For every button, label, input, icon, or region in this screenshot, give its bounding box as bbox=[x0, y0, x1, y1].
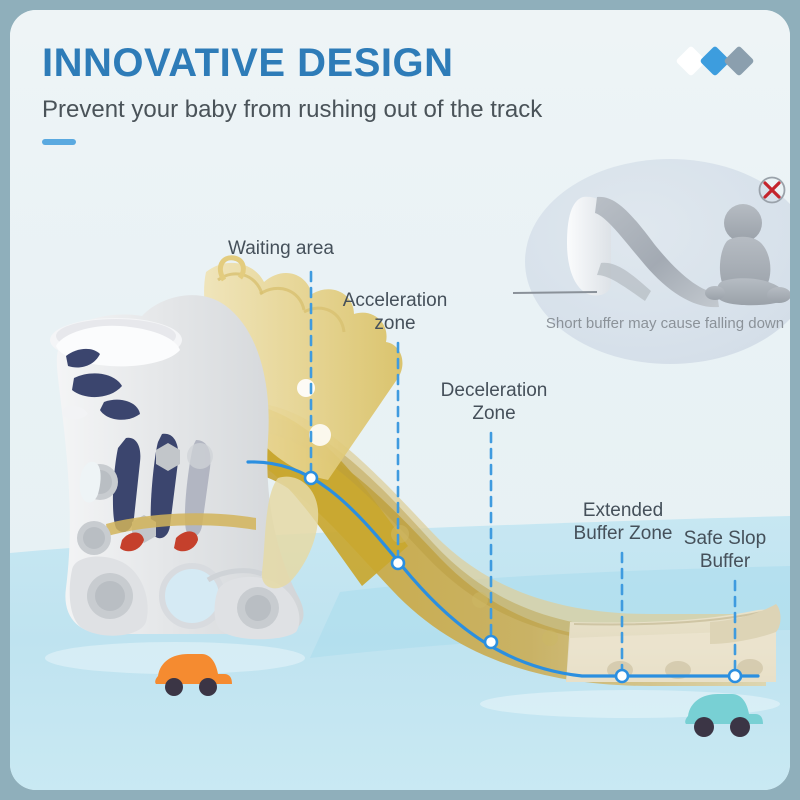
wheel-hub bbox=[95, 581, 125, 611]
label-waiting-area: Waiting area bbox=[228, 238, 334, 261]
poster-card: INNOVATIVE DESIGN Prevent your baby from… bbox=[10, 10, 790, 790]
page-subtitle: Prevent your baby from rushing out of th… bbox=[42, 96, 758, 125]
wheel-hub bbox=[245, 595, 271, 621]
inset-floor-line bbox=[513, 292, 597, 293]
bolt-hub bbox=[83, 527, 105, 549]
inset-caption: Short buffer may cause falling down bbox=[545, 315, 785, 334]
page-title: INNOVATIVE DESIGN bbox=[42, 42, 758, 84]
node-waiting bbox=[305, 472, 317, 484]
slide-rivet bbox=[472, 592, 488, 608]
header: INNOVATIVE DESIGN Prevent your baby from… bbox=[42, 42, 758, 145]
node-deceleration bbox=[485, 636, 497, 648]
inset-slide-ramp bbox=[595, 197, 719, 307]
diamond-decor-group bbox=[680, 50, 750, 72]
label-safe-slop-buffer: Safe Slop Buffer bbox=[660, 528, 790, 574]
slide-rivet bbox=[542, 630, 558, 646]
node-extended bbox=[616, 670, 628, 682]
infographic-poster: INNOVATIVE DESIGN Prevent your baby from… bbox=[0, 0, 800, 800]
label-acceleration-zone: Acceleration zone bbox=[320, 290, 470, 336]
node-safeslop bbox=[729, 670, 741, 682]
round-bolt bbox=[187, 443, 213, 469]
label-deceleration-zone: Deceleration Zone bbox=[414, 380, 574, 426]
no-symbol-icon bbox=[757, 175, 787, 205]
accent-bar bbox=[42, 139, 76, 145]
inset-warning-panel: Short buffer may cause falling down bbox=[505, 165, 790, 380]
inset-baby bbox=[705, 204, 790, 305]
node-acceleration bbox=[392, 557, 404, 569]
inset-artwork bbox=[505, 165, 790, 380]
inset-slide bbox=[513, 197, 719, 307]
diamond-gray-icon bbox=[723, 45, 754, 76]
slide-rivet bbox=[391, 525, 409, 543]
